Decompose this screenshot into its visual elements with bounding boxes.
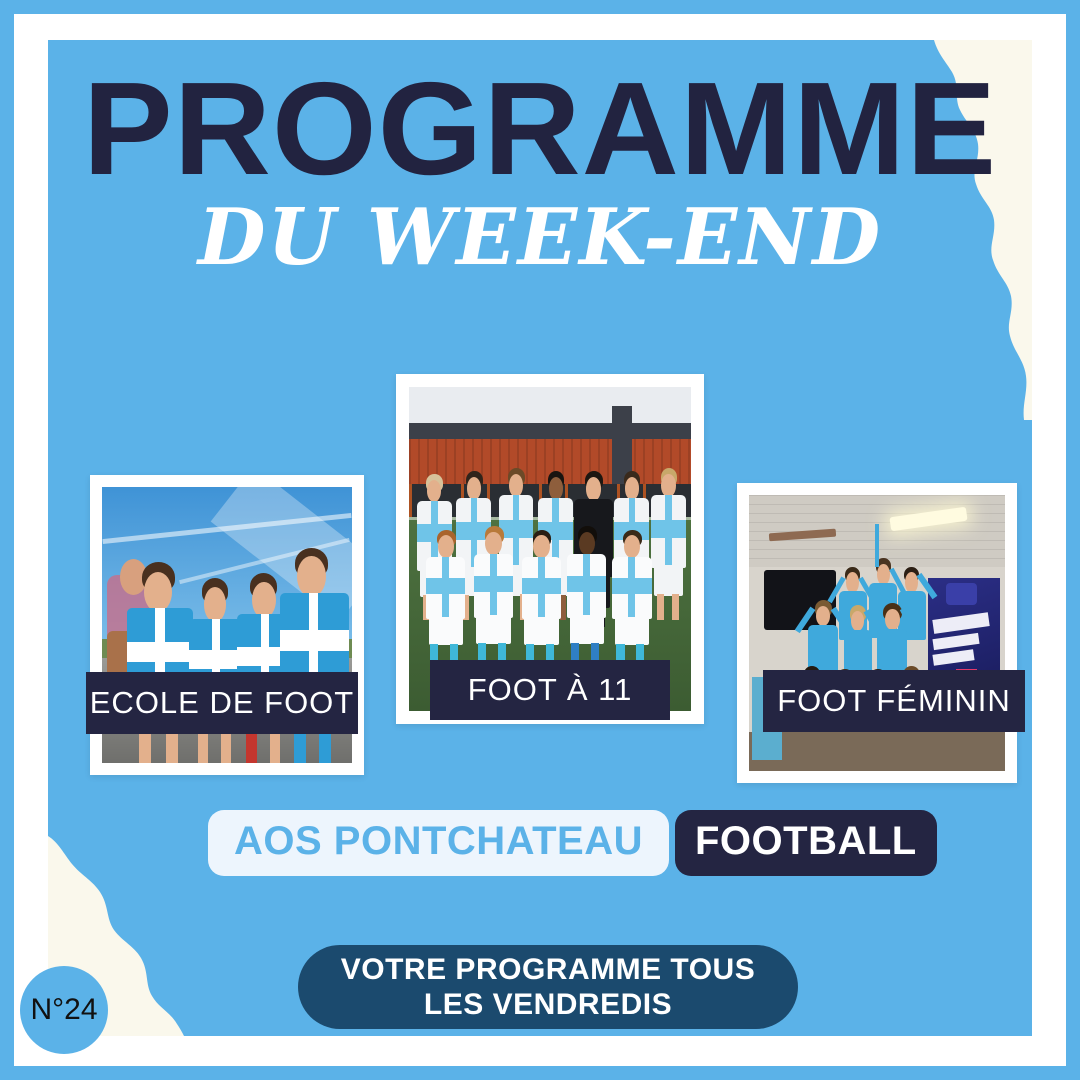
poster-content-area: PROGRAMME DU WEEK-END <box>48 40 1032 1036</box>
cta-banner[interactable]: VOTRE PROGRAMME TOUS LES VENDREDIS <box>298 945 798 1029</box>
cta-line-2: LES VENDREDIS <box>424 987 672 1022</box>
cta-line-1: VOTRE PROGRAMME TOUS <box>341 952 755 987</box>
photo-caption-foot-a-11: FOOT À 11 <box>430 660 670 720</box>
photo-card-foot-a-11[interactable]: FOOT À 11 <box>396 374 704 724</box>
photo-caption-ecole-de-foot: ECOLE DE FOOT <box>86 672 358 734</box>
photo-card-ecole-de-foot[interactable]: ECOLE DE FOOT <box>90 475 364 775</box>
club-identity-bar: AOS PONTCHATEAU FOOTBALL <box>208 810 937 876</box>
club-sport-pill: FOOTBALL <box>675 810 937 876</box>
photo-card-foot-feminin[interactable]: FOOT FÉMININ <box>737 483 1017 783</box>
club-name-pill: AOS PONTCHATEAU <box>208 810 669 876</box>
photo-caption-foot-feminin: FOOT FÉMININ <box>763 670 1025 732</box>
page-subtitle: DU WEEK-END <box>48 199 1032 277</box>
issue-number-badge: N°24 <box>20 966 108 1054</box>
page-title: PROGRAMME <box>48 64 1032 193</box>
title-block: PROGRAMME DU WEEK-END <box>48 64 1032 277</box>
poster-root: PROGRAMME DU WEEK-END <box>0 0 1080 1080</box>
